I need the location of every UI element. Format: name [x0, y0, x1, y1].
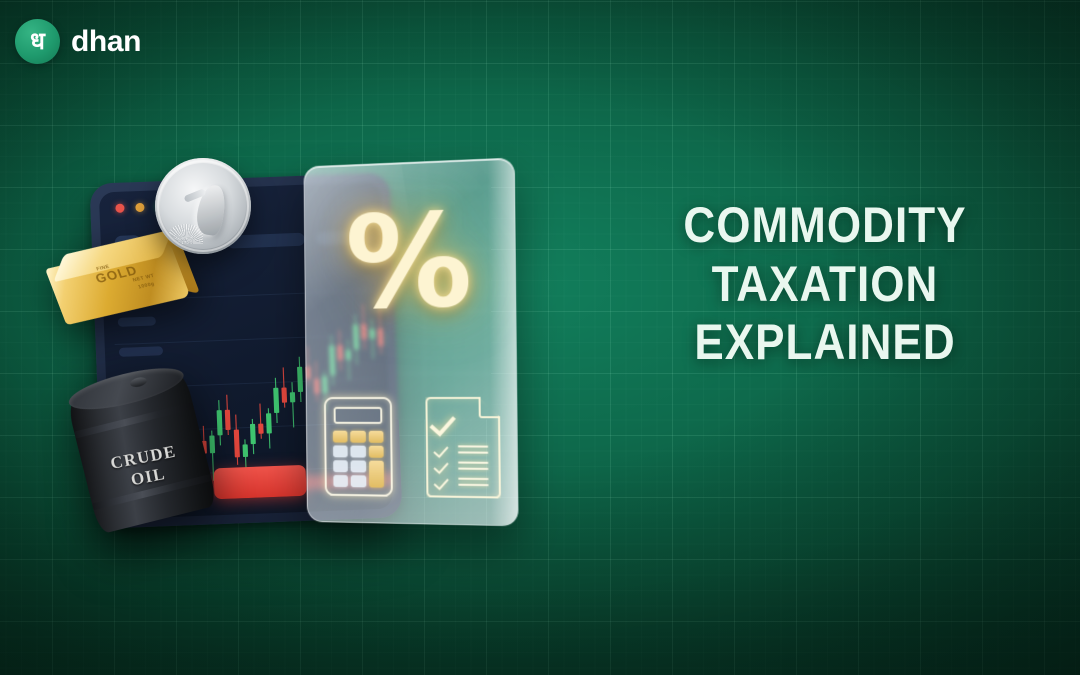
headline-line-2: TAXATION: [653, 255, 996, 314]
headline-block: COMMODITY TAXATION EXPLAINED: [630, 196, 1020, 372]
coin-rim: [157, 160, 249, 252]
percent-symbol: %: [322, 196, 497, 328]
silver-coin: [155, 158, 251, 254]
calculator-key: [369, 431, 384, 443]
calculator-display: [334, 407, 383, 424]
calculator-key: [351, 475, 366, 487]
calculator-keypad: [333, 431, 384, 488]
poster-canvas: ध dhan: [0, 0, 1080, 675]
calculator-key: [351, 461, 366, 473]
calculator-key: [333, 431, 348, 443]
close-dot-icon[interactable]: [115, 204, 124, 213]
calculator-key: [333, 460, 348, 472]
sell-action-button[interactable]: [213, 465, 306, 500]
calculator-key: [369, 446, 384, 458]
calculator-key: [333, 445, 348, 457]
calculator-key: [351, 431, 366, 443]
glass-card-icons: [324, 393, 501, 499]
sidebar-pill: [119, 346, 163, 357]
headline-line-1: COMMODITY: [653, 196, 996, 255]
devanagari-dha-glyph: ध: [30, 29, 45, 53]
dhan-mark-icon: ध: [15, 19, 60, 64]
calculator-key: [333, 475, 348, 487]
calculator-icon: [324, 397, 393, 497]
headline-line-3: EXPLAINED: [653, 313, 996, 372]
calculator-key: [351, 446, 366, 458]
minimize-dot-icon[interactable]: [135, 203, 144, 212]
document-fold-corner: [479, 397, 501, 418]
brand-logo[interactable]: ध dhan: [15, 19, 141, 64]
glass-card: %: [303, 158, 518, 527]
checklist-document-icon: [425, 397, 501, 499]
hero-artwork: FINE GOLD NET WT1000g CRUDE OIL: [60, 150, 560, 580]
calculator-key-enter: [369, 461, 384, 488]
brand-name: dhan: [71, 25, 141, 59]
